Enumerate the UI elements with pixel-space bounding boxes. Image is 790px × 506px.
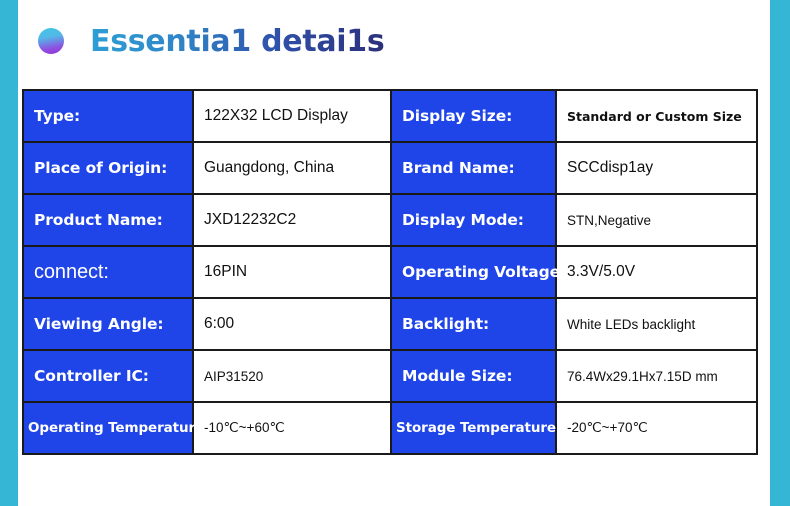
spec-value-place-of-origin: Guangdong, China (193, 142, 391, 194)
spec-label-module-size: Module Size: (391, 350, 556, 402)
spec-label-type: Type: (23, 90, 193, 142)
spec-value-display-mode: STN,Negative (556, 194, 757, 246)
spec-value-module-size: 76.4Wx29.1Hx7.15D mm (556, 350, 757, 402)
spec-value-controller-ic: AIP31520 (193, 350, 391, 402)
right-accent-bar (770, 0, 790, 506)
spec-value-viewing-angle: 6:00 (193, 298, 391, 350)
spec-label-place-of-origin: Place of Origin: (23, 142, 193, 194)
spec-label-viewing-angle: Viewing Angle: (23, 298, 193, 350)
spec-label-brand-name: Brand Name: (391, 142, 556, 194)
table-row: Controller IC: AIP31520 Module Size: 76.… (23, 350, 757, 402)
spec-value-operating-voltage: 3.3V/5.0V (556, 246, 757, 298)
spec-label-connect: connect: (23, 246, 193, 298)
table-row: Place of Origin: Guangdong, China Brand … (23, 142, 757, 194)
spec-value-storage-temperature: -20℃~+70℃ (556, 402, 757, 454)
page-header: Essentia1 detai1s (18, 0, 770, 82)
specification-table: Type: 122X32 LCD Display Display Size: S… (22, 89, 758, 455)
spec-label-operating-voltage: Operating Voltage: (391, 246, 556, 298)
spec-label-controller-ic: Controller IC: (23, 350, 193, 402)
spec-label-display-mode: Display Mode: (391, 194, 556, 246)
spec-value-display-size: Standard or Custom Size (556, 90, 757, 142)
spec-value-brand-name: SCCdisp1ay (556, 142, 757, 194)
page-title: Essentia1 detai1s (90, 24, 384, 59)
spec-value-backlight: White LEDs backlight (556, 298, 757, 350)
spec-value-operating-temperature: -10℃~+60℃ (193, 402, 391, 454)
table-row: Viewing Angle: 6:00 Backlight: White LED… (23, 298, 757, 350)
spec-label-operating-temperature: Operating Temperature (23, 402, 193, 454)
spec-label-backlight: Backlight: (391, 298, 556, 350)
spec-label-storage-temperature: Storage Temperature (391, 402, 556, 454)
spec-label-product-name: Product Name: (23, 194, 193, 246)
table-row: Operating Temperature -10℃~+60℃ Storage … (23, 402, 757, 454)
left-accent-bar (0, 0, 18, 506)
table-row: Type: 122X32 LCD Display Display Size: S… (23, 90, 757, 142)
table-row: connect: 16PIN Operating Voltage: 3.3V/5… (23, 246, 757, 298)
gradient-circle-icon (38, 28, 64, 54)
spec-label-display-size: Display Size: (391, 90, 556, 142)
table-row: Product Name: JXD12232C2 Display Mode: S… (23, 194, 757, 246)
spec-value-product-name: JXD12232C2 (193, 194, 391, 246)
spec-value-type: 122X32 LCD Display (193, 90, 391, 142)
spec-value-connect: 16PIN (193, 246, 391, 298)
